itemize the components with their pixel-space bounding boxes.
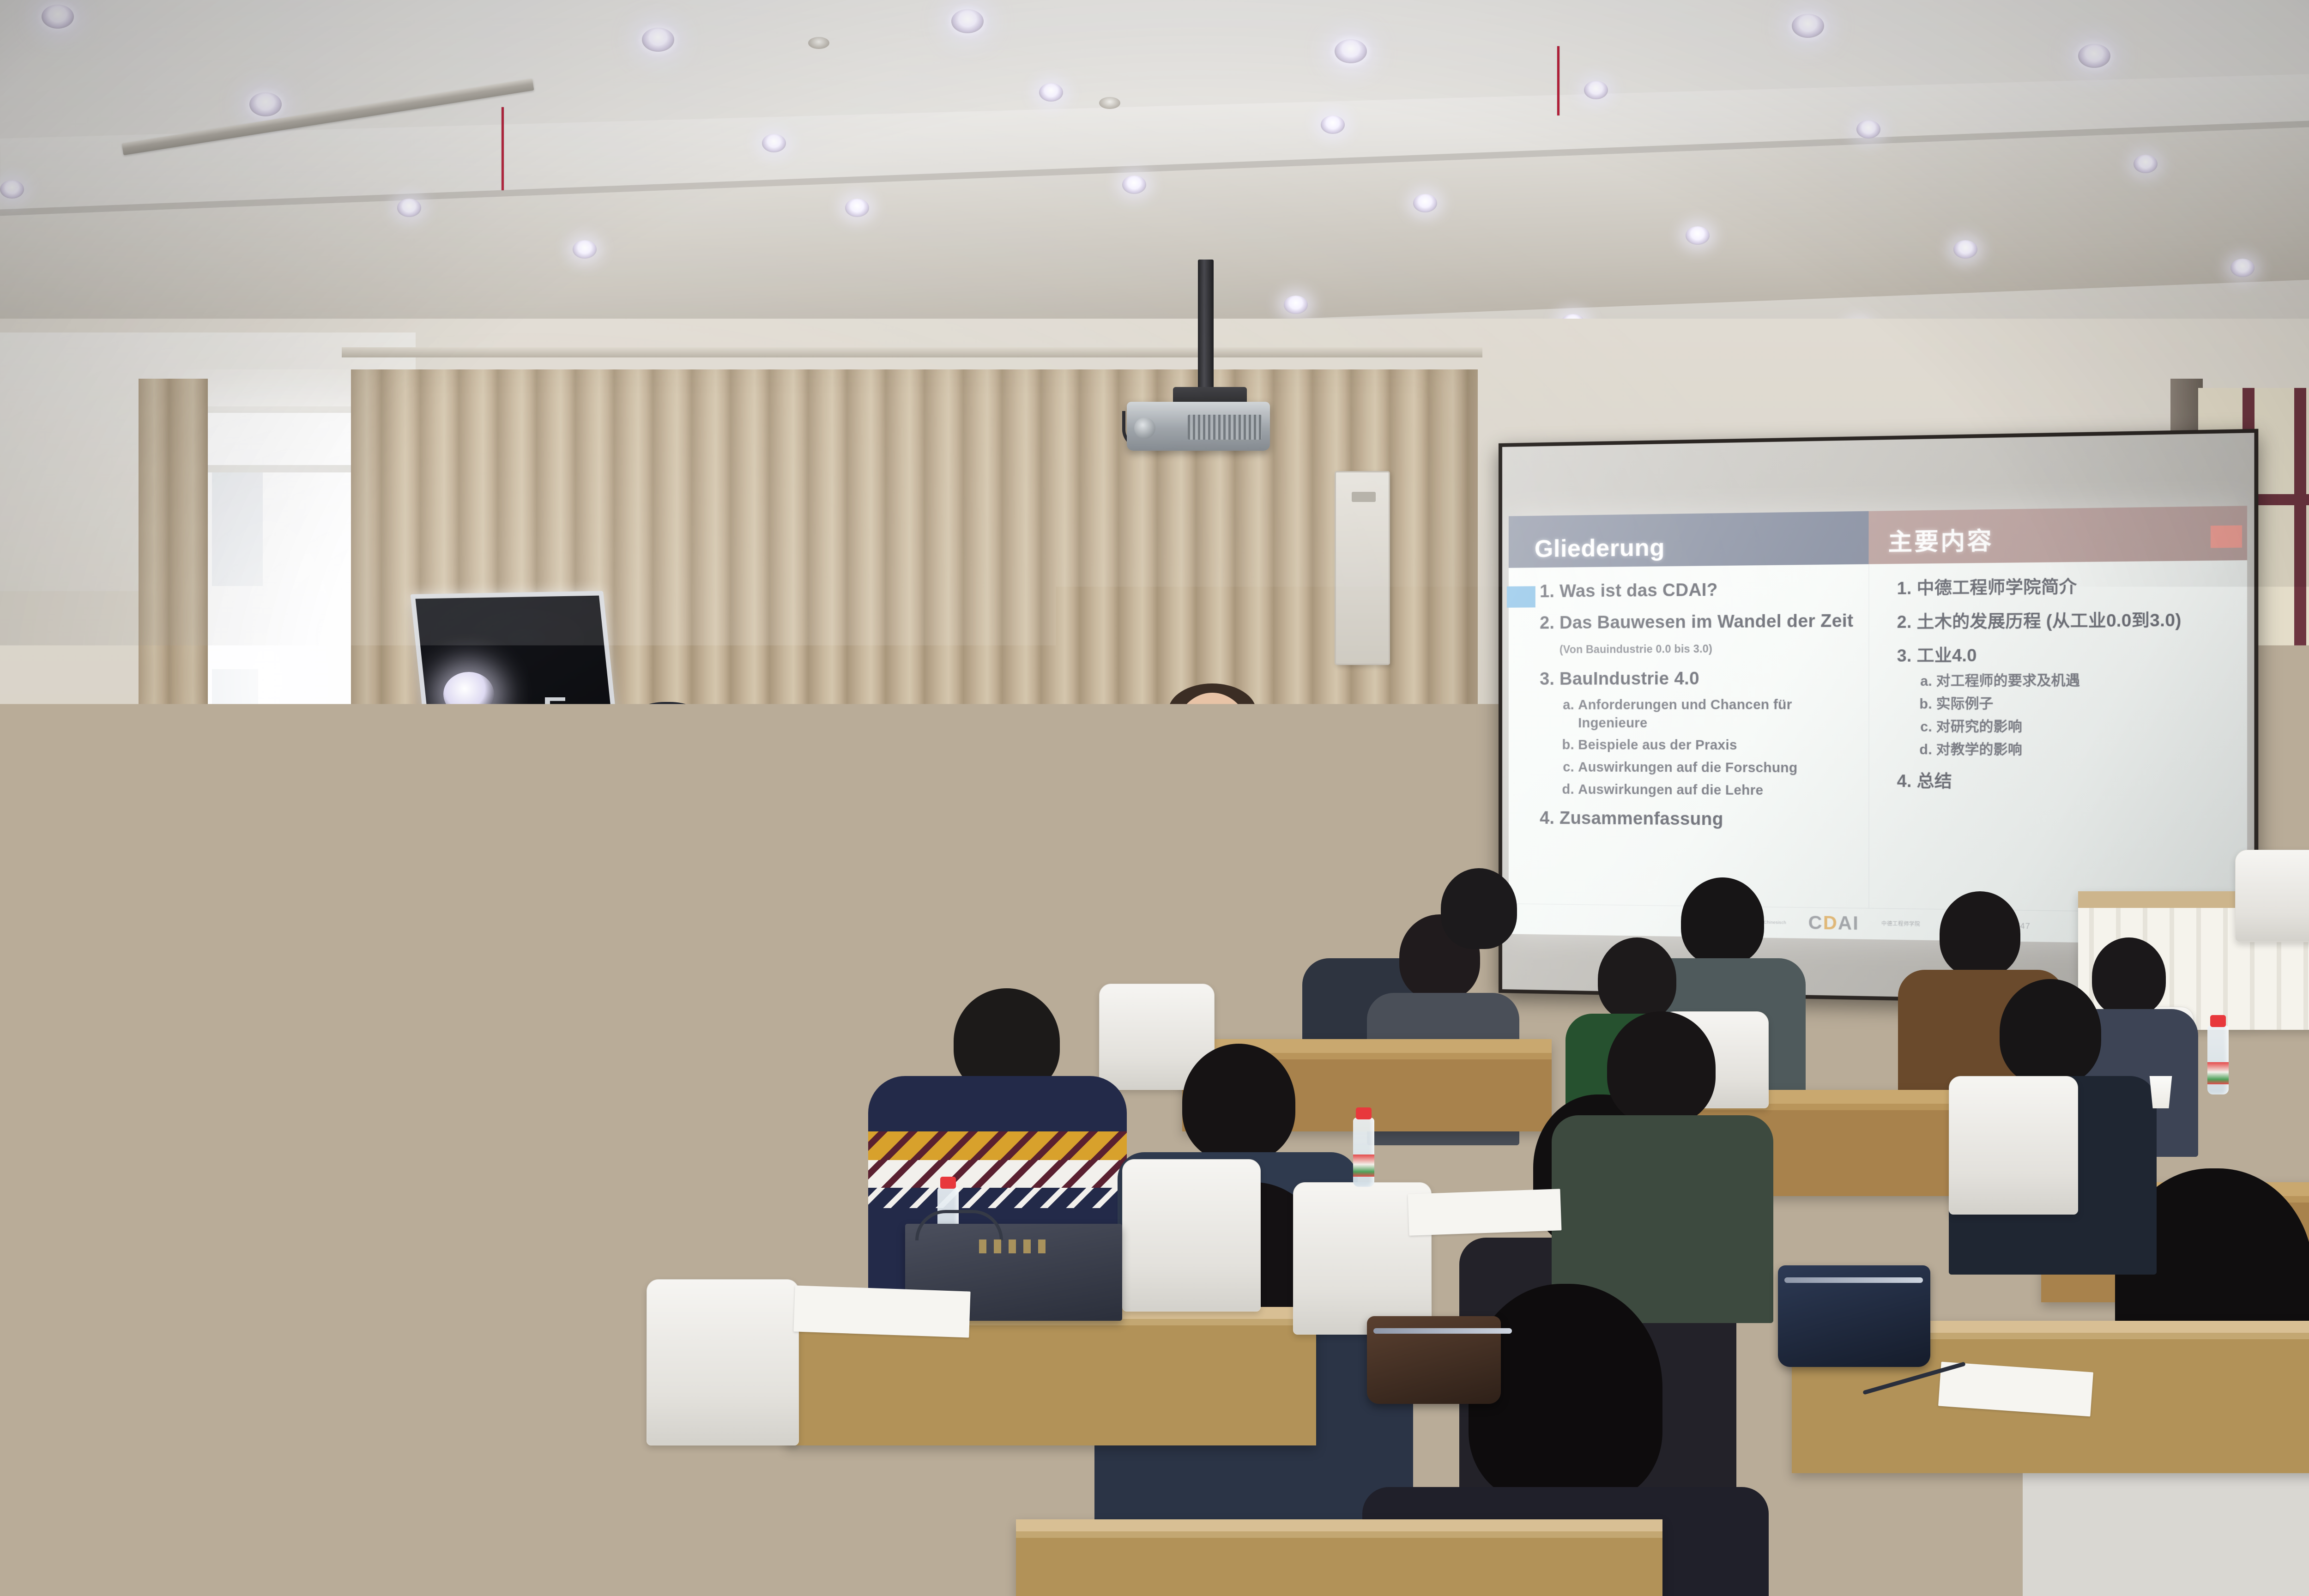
ceiling-downlight [845, 199, 869, 217]
ceiling-downlight [2134, 155, 2158, 173]
logo-letter-d: D [1823, 913, 1838, 933]
attendee-head [748, 988, 854, 1099]
window-sash [203, 411, 365, 1021]
slide-title-chinese: 主要内容 [1888, 522, 1993, 557]
bottle-label [272, 1205, 293, 1227]
attendee-head [799, 868, 875, 949]
leather-handbag[interactable] [1367, 1316, 1501, 1404]
ceiling-downlight [642, 28, 674, 52]
slide-header-bars: Gliederung 主要内容 [1509, 506, 2247, 568]
attendee-head [637, 947, 737, 1051]
cdai-logo-chinese: 中德工程师学院 [1881, 921, 1920, 928]
sweater-zigzag-band [868, 1188, 1127, 1208]
softbox-brand-accent [547, 719, 563, 725]
slide-body: Was ist das CDAI? Das Bauwesen im Wandel… [1509, 560, 2247, 913]
attendee-head [1598, 937, 1676, 1021]
folding-chair[interactable] [42, 1099, 180, 1247]
sub-outline-item: 对研究的影响 [1936, 718, 2237, 737]
attendee-head [1940, 891, 2020, 977]
folding-chair[interactable] [443, 1242, 596, 1409]
projector-lens [1134, 417, 1155, 439]
logo-letter-ai: AI [1838, 913, 1859, 934]
sprinkler-head [808, 37, 829, 49]
bottle-cap [940, 1177, 956, 1189]
attendee-head [1182, 1044, 1295, 1161]
water-bottle[interactable] [272, 1168, 293, 1238]
ceiling-downlight [1413, 194, 1437, 212]
ceiling-downlight [1792, 14, 1824, 38]
logo-letter-c: C [1808, 913, 1823, 933]
folding-chair[interactable] [637, 1519, 831, 1596]
tea-thermos[interactable] [212, 1067, 241, 1155]
ceiling-downlight [397, 199, 421, 217]
projector-mount-pole [1198, 260, 1214, 393]
outline-subnote: (Von Bauindustrie 0.0 bis 3.0) [1559, 642, 1712, 655]
attendee-head [573, 877, 637, 947]
ceiling-downlight [1122, 175, 1146, 194]
ceiling-downlight [1284, 296, 1308, 314]
notepad[interactable] [1408, 1189, 1562, 1235]
outline-item: 中德工程师学院简介 [1917, 573, 2237, 600]
slide-header-left: Gliederung [1509, 511, 1869, 568]
ceiling-downlight [1039, 83, 1063, 102]
ceiling-downlight [1335, 39, 1367, 63]
attendee-head [1607, 1011, 1716, 1124]
handbag-zipper [1373, 1328, 1512, 1334]
ceiling-downlight [2078, 44, 2110, 68]
folding-chair[interactable] [1949, 1076, 2078, 1215]
ceiling-downlight [1584, 81, 1608, 99]
slide-column-chinese: 中德工程师学院简介 土木的发展历程 (从工业0.0到3.0) 工业4.0 对工程… [1868, 560, 2247, 913]
sub-outline-item: 对工程师的要求及机遇 [1936, 671, 2237, 691]
curtain-rod [342, 347, 1482, 357]
presentation-slide: Gliederung 主要内容 Was ist das CDAI? [1509, 506, 2247, 945]
attendee-head [1330, 887, 1404, 965]
attendee-head [1441, 868, 1517, 949]
cdai-logo: CDAI [1808, 913, 1859, 935]
attendee-table [1016, 1519, 1662, 1596]
outline-item: Zusammenfassung [1559, 806, 1859, 833]
attendee-head [1681, 877, 1764, 965]
water-bottle[interactable] [1353, 1118, 1374, 1187]
window [199, 406, 369, 1025]
ceiling-downlight [1953, 240, 1977, 259]
red-hanging-wire [1557, 46, 1559, 115]
softbox-bulb [443, 672, 494, 716]
accent-square-rose [2211, 525, 2242, 548]
outline-item: 总结 [1917, 769, 2237, 795]
sweater-zigzag-band [868, 1160, 1127, 1188]
ceiling-downlight [1686, 226, 1710, 245]
sub-outline-item: Auswirkungen auf die Forschung [1578, 759, 1859, 778]
chinese-sub-outline-list: 对工程师的要求及机遇 实际例子 对研究的影响 对教学的影响 [1917, 671, 2237, 760]
folding-chair[interactable] [647, 1279, 799, 1445]
folding-chair[interactable] [1122, 1159, 1261, 1312]
conference-room-photo: Gliederung 主要内容 Was ist das CDAI? [0, 0, 2309, 1596]
handbag-zipper [1784, 1277, 1923, 1283]
outline-item: 工业4.0 对工程师的要求及机遇 实际例子 对研究的影响 对教学的影响 [1917, 642, 2237, 760]
notepad[interactable] [1450, 1118, 1589, 1150]
sub-outline-item: Auswirkungen auf die Lehre [1578, 781, 1859, 800]
leather-handbag[interactable] [1778, 1265, 1930, 1367]
attendee-head [1067, 873, 1148, 958]
outline-item: Was ist das CDAI? [1559, 577, 1859, 604]
moderator-head [896, 727, 961, 809]
outline-item: Das Bauwesen im Wandel der Zeit (Von Bau… [1559, 609, 1859, 660]
water-bottle[interactable] [2207, 1025, 2229, 1094]
wall-speaker [1335, 471, 1390, 665]
ceiling-projector [1127, 402, 1270, 451]
sprinkler-head [1099, 97, 1120, 109]
outline-item: 土木的发展历程 (从工业0.0到3.0) [1917, 607, 2237, 634]
presenter-laptop[interactable] [1194, 822, 1332, 859]
ceiling-downlight [951, 9, 984, 33]
sweater-zigzag-band [868, 1131, 1127, 1160]
sub-outline-item: Anforderungen und Chancen für Ingenieure [1578, 696, 1859, 733]
accent-square-blue [1507, 586, 1535, 608]
attendee-head [2092, 937, 2166, 1016]
bottle-cap [1356, 1107, 1372, 1119]
attendee-head [1182, 877, 1261, 961]
projector-vents [1188, 415, 1262, 440]
outline-item: BauIndustrie 4.0 Anforderungen und Chanc… [1559, 666, 1859, 801]
bottle-cap [274, 1158, 290, 1170]
slide-title-german: Gliederung [1535, 533, 1665, 563]
ceiling-downlight [1321, 115, 1345, 134]
attendee-head [416, 928, 513, 1030]
sub-outline-item: Beispiele aus der Praxis [1578, 737, 1859, 756]
bottle-label [2207, 1062, 2229, 1084]
ceiling-downlight [249, 92, 282, 116]
bottle-cap [2210, 1015, 2226, 1027]
ceiling-downlight [762, 134, 786, 152]
bottle-label [1353, 1155, 1374, 1177]
attendee-head [2000, 979, 2101, 1085]
ceiling-downlight [2230, 259, 2255, 277]
notepad[interactable] [793, 1285, 970, 1337]
floral-coat [222, 1219, 439, 1372]
sub-outline-item: 实际例子 [1936, 695, 2237, 714]
german-sub-outline-list: Anforderungen und Chancen für Ingenieure… [1559, 696, 1859, 801]
slide-header-right: 主要内容 [1868, 506, 2247, 564]
german-outline-list: Was ist das CDAI? Das Bauwesen im Wandel… [1535, 577, 1859, 833]
red-hanging-wire [502, 107, 504, 190]
recording-indicator-icon [744, 785, 755, 795]
slide-column-german: Was ist das CDAI? Das Bauwesen im Wandel… [1509, 564, 1869, 908]
attendee-head [439, 1025, 591, 1191]
attendee-head [97, 901, 189, 997]
sub-outline-item: 对教学的影响 [1936, 741, 2237, 760]
ceiling-downlight [42, 5, 74, 29]
tote-logo-text [979, 1239, 1053, 1253]
ceiling-downlight [1856, 120, 1880, 139]
ceiling-downlight [573, 240, 597, 259]
chinese-outline-list: 中德工程师学院简介 土木的发展历程 (从工业0.0到3.0) 工业4.0 对工程… [1892, 573, 2237, 795]
folding-chair[interactable] [2235, 850, 2309, 942]
ceiling-downlight [0, 180, 24, 199]
